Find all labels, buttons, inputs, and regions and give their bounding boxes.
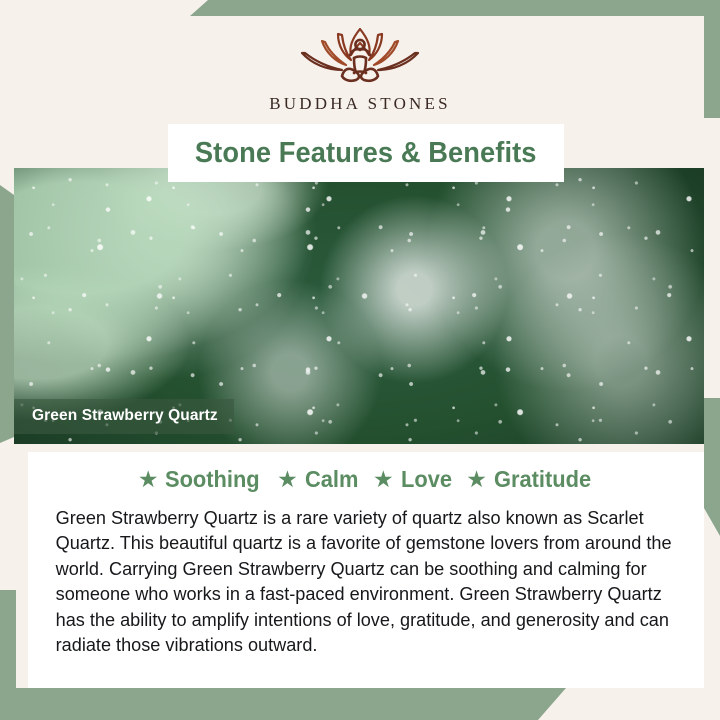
- content-card: ★ Soothing ★ Calm ★ Love ★ Gratitude Gre…: [28, 452, 704, 688]
- star-icon: ★: [277, 468, 298, 491]
- brand-wordmark: BUDDHA STONES: [269, 94, 451, 114]
- decor-bar-left: [0, 185, 14, 443]
- decor-bar-bottom: [0, 688, 566, 720]
- keyword-item: ★ Calm: [265, 466, 361, 493]
- photo-caption: Green Strawberry Quartz: [14, 399, 234, 434]
- title-card: Stone Features & Benefits: [168, 124, 564, 182]
- decor-bar-right-middle: [704, 398, 720, 536]
- stone-description: Green Strawberry Quartz is a rare variet…: [32, 505, 682, 657]
- star-icon: ★: [466, 468, 487, 491]
- star-icon: ★: [138, 468, 159, 491]
- stone-photo: Green Strawberry Quartz: [14, 168, 704, 444]
- keyword-item: ★ Gratitude: [454, 466, 596, 493]
- keyword-label: Calm: [305, 466, 358, 493]
- keyword-list: ★ Soothing ★ Calm ★ Love ★ Gratitude: [42, 466, 692, 493]
- keyword-label: Love: [401, 466, 452, 493]
- keyword-label: Gratitude: [494, 466, 591, 493]
- keyword-item: ★ Love: [361, 466, 454, 493]
- stone-benefits-poster: BUDDHA STONES Green Strawberry Quartz St…: [0, 0, 720, 720]
- page-title: Stone Features & Benefits: [195, 137, 537, 170]
- keyword-item: ★ Soothing: [138, 466, 265, 493]
- star-icon: ★: [373, 468, 394, 491]
- lotus-meditation-icon: [294, 22, 426, 88]
- brand-header: BUDDHA STONES: [0, 0, 720, 128]
- keyword-label: Soothing: [165, 466, 260, 493]
- decor-bar-left-bottom: [0, 590, 16, 720]
